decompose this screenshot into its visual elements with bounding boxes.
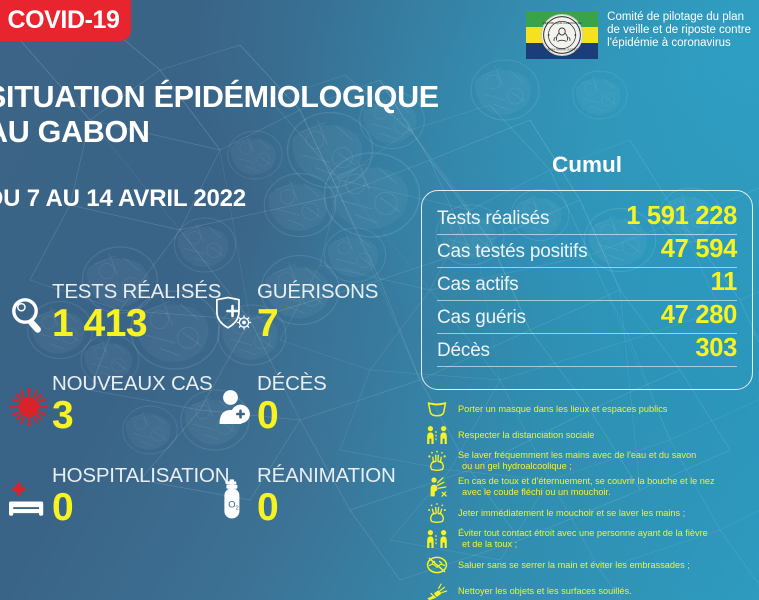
svg-text:REPUBLIQUE GABONAISE: REPUBLIQUE GABONAISE	[543, 21, 582, 25]
prevention-line-2: et de la toux ;	[458, 539, 708, 550]
committee-line-2: de veille et de riposte contre	[607, 24, 751, 37]
stat-label: TESTS RÉALISÉS	[52, 280, 221, 304]
stat-nouveaux-cas-body: NOUVEAUX CAS 3	[52, 372, 213, 436]
cumul-label: Décès	[437, 340, 490, 362]
prevention-text: Respecter la distanciation sociale	[458, 430, 594, 441]
cumul-row-cas-gueris: Cas guéris 47 280	[437, 301, 737, 334]
stat-reanimation-body: RÉANIMATION 0	[257, 464, 396, 528]
committee-branding: REPUBLIQUE GABONAISE UNION-TRAVAIL-JUSTI…	[526, 11, 751, 59]
distancing-icon	[424, 424, 450, 446]
cumul-label: Cas guéris	[437, 307, 526, 329]
republic-seal: REPUBLIQUE GABONAISE UNION-TRAVAIL-JUSTI…	[541, 14, 583, 56]
tissue-wash-icon	[424, 502, 450, 524]
committee-line-1: Comité de pilotage du plan	[607, 11, 751, 24]
stat-guerisons-body: GUÉRISONS 7	[257, 280, 378, 344]
seal-emblem-icon: REPUBLIQUE GABONAISE UNION-TRAVAIL-JUSTI…	[542, 15, 582, 55]
cumul-row-deces: Décès 303	[437, 334, 737, 367]
stat-value: 0	[52, 488, 229, 528]
prevention-line-1: En cas de toux et d'éternuement, se couv…	[458, 476, 715, 486]
stats-row-3: HOSPITALISATION 0 O 2	[0, 436, 410, 528]
wash-hands-icon	[424, 450, 450, 472]
stat-deces-body: DÉCÈS 0	[257, 372, 327, 436]
stat-guerisons: GUÉRISONS 7	[205, 252, 410, 344]
committee-line-3: l'épidémie à coronavirus	[607, 37, 751, 50]
stat-label: HOSPITALISATION	[52, 464, 229, 488]
page-title: SITUATION ÉPIDÉMIOLOGIQUE AU GABON	[0, 80, 439, 150]
svg-text:2: 2	[236, 506, 239, 512]
stat-tests-realises: TESTS RÉALISÉS 1 413	[0, 252, 205, 344]
prevention-text: Éviter tout contact étroit avec une pers…	[458, 528, 708, 550]
prevention-item: En cas de toux et d'éternuement, se couv…	[424, 476, 754, 498]
no-handshake-icon	[424, 554, 450, 576]
stat-hospitalisation: HOSPITALISATION 0	[0, 436, 205, 528]
prevention-text: Se laver fréquemment les mains avec de l…	[458, 450, 696, 472]
prevention-line-1: Se laver fréquemment les mains avec de l…	[458, 450, 696, 460]
stat-nouveaux-cas: NOUVEAUX CAS 3	[0, 344, 205, 436]
prevention-item: Éviter tout contact étroit avec une pers…	[424, 528, 754, 550]
stat-label: RÉANIMATION	[257, 464, 396, 488]
prevention-item: Jeter immédiatement le mouchoir et se la…	[424, 502, 754, 524]
hospital-bed-icon	[6, 476, 52, 522]
oxygen-tank-icon: O 2	[211, 476, 257, 522]
cumul-value: 47 280	[661, 301, 737, 330]
cumul-label: Cas testés positifs	[437, 241, 587, 263]
magnifier-icon	[6, 292, 52, 338]
prevention-line-1: Saluer sans se serrer la main et éviter …	[458, 560, 690, 570]
prevention-line-1: Nettoyer les objets et les surfaces soui…	[458, 586, 632, 596]
committee-title: Comité de pilotage du plan de veille et …	[607, 11, 751, 49]
stat-deces: DÉCÈS 0	[205, 344, 410, 436]
stat-label: NOUVEAUX CAS	[52, 372, 213, 396]
stats-row-2: NOUVEAUX CAS 3 DÉCÈS 0	[0, 344, 410, 436]
stat-tests-realises-body: TESTS RÉALISÉS 1 413	[52, 280, 221, 344]
prevention-line-1: Éviter tout contact étroit avec une pers…	[458, 528, 708, 538]
cumul-label: Tests réalisés	[437, 208, 549, 230]
stat-value: 0	[257, 396, 327, 436]
prevention-item: Porter un masque dans les lieux et espac…	[424, 398, 754, 420]
cumul-label: Cas actifs	[437, 274, 518, 296]
cumul-value: 47 594	[661, 235, 737, 264]
stat-value: 7	[257, 304, 378, 344]
prevention-text: Jeter immédiatement le mouchoir et se la…	[458, 508, 685, 519]
cumul-value: 1 591 228	[626, 202, 737, 231]
stat-reanimation: O 2 RÉANIMATION 0	[205, 436, 410, 528]
cumul-row-cas-actifs: Cas actifs 11	[437, 268, 737, 301]
covid-badge: COVID-19	[0, 0, 131, 41]
prevention-line-1: Respecter la distanciation sociale	[458, 430, 594, 440]
stat-hospitalisation-body: HOSPITALISATION 0	[52, 464, 229, 528]
cumul-row-cas-testes-positifs: Cas testés positifs 47 594	[437, 235, 737, 268]
cumul-value: 303	[695, 334, 737, 363]
prevention-item: Se laver fréquemment les mains avec de l…	[424, 450, 754, 472]
avoid-contact-icon	[424, 528, 450, 550]
report-period: DU 7 AU 14 AVRIL 2022	[0, 185, 246, 213]
shield-virus-icon	[211, 292, 257, 338]
prevention-item: Nettoyer les objets et les surfaces soui…	[424, 580, 754, 600]
stat-value: 1 413	[52, 304, 221, 344]
prevention-text: Saluer sans se serrer la main et éviter …	[458, 560, 690, 571]
prevention-line-1: Jeter immédiatement le mouchoir et se la…	[458, 508, 685, 518]
prevention-item: Saluer sans se serrer la main et éviter …	[424, 554, 754, 576]
infographic-canvas: COVID-19 REPUBLIQUE GABONAISE UNION-TRAV…	[0, 0, 759, 600]
covid-badge-label: COVID-19	[7, 6, 119, 35]
virus-icon	[6, 384, 52, 430]
stats-row-1: TESTS RÉALISÉS 1 413	[0, 252, 410, 344]
prevention-line-2: avec le coude fléchi ou un mouchoir.	[458, 487, 715, 498]
cumul-heading: Cumul	[421, 152, 753, 178]
person-cross-icon	[211, 384, 257, 430]
weekly-stats-grid: TESTS RÉALISÉS 1 413	[0, 252, 410, 528]
mask-icon	[424, 398, 450, 420]
stat-value: 0	[257, 488, 396, 528]
page-title-line-2: AU GABON	[0, 115, 439, 150]
stat-value: 3	[52, 396, 213, 436]
prevention-measures-list: Porter un masque dans les lieux et espac…	[424, 398, 754, 600]
gabon-flag-logo: REPUBLIQUE GABONAISE UNION-TRAVAIL-JUSTI…	[526, 11, 598, 59]
prevention-line-1: Porter un masque dans les lieux et espac…	[458, 404, 667, 414]
prevention-text: En cas de toux et d'éternuement, se couv…	[458, 476, 715, 498]
clean-surface-icon	[424, 580, 450, 600]
cumul-value: 11	[711, 268, 737, 297]
page-title-line-1: SITUATION ÉPIDÉMIOLOGIQUE	[0, 80, 439, 115]
prevention-item: Respecter la distanciation sociale	[424, 424, 754, 446]
prevention-text: Porter un masque dans les lieux et espac…	[458, 404, 667, 415]
prevention-line-2: ou un gel hydroalcoolique ;	[458, 461, 696, 472]
stat-label: DÉCÈS	[257, 372, 327, 396]
svg-text:UNION-TRAVAIL-JUSTICE: UNION-TRAVAIL-JUSTICE	[546, 47, 579, 51]
cough-elbow-icon	[424, 476, 450, 498]
cumul-table: Tests réalisés 1 591 228 Cas testés posi…	[421, 190, 753, 390]
prevention-text: Nettoyer les objets et les surfaces soui…	[458, 586, 632, 597]
stat-label: GUÉRISONS	[257, 280, 378, 304]
cumul-row-tests-realises: Tests réalisés 1 591 228	[437, 202, 737, 235]
svg-text:O: O	[228, 499, 235, 510]
